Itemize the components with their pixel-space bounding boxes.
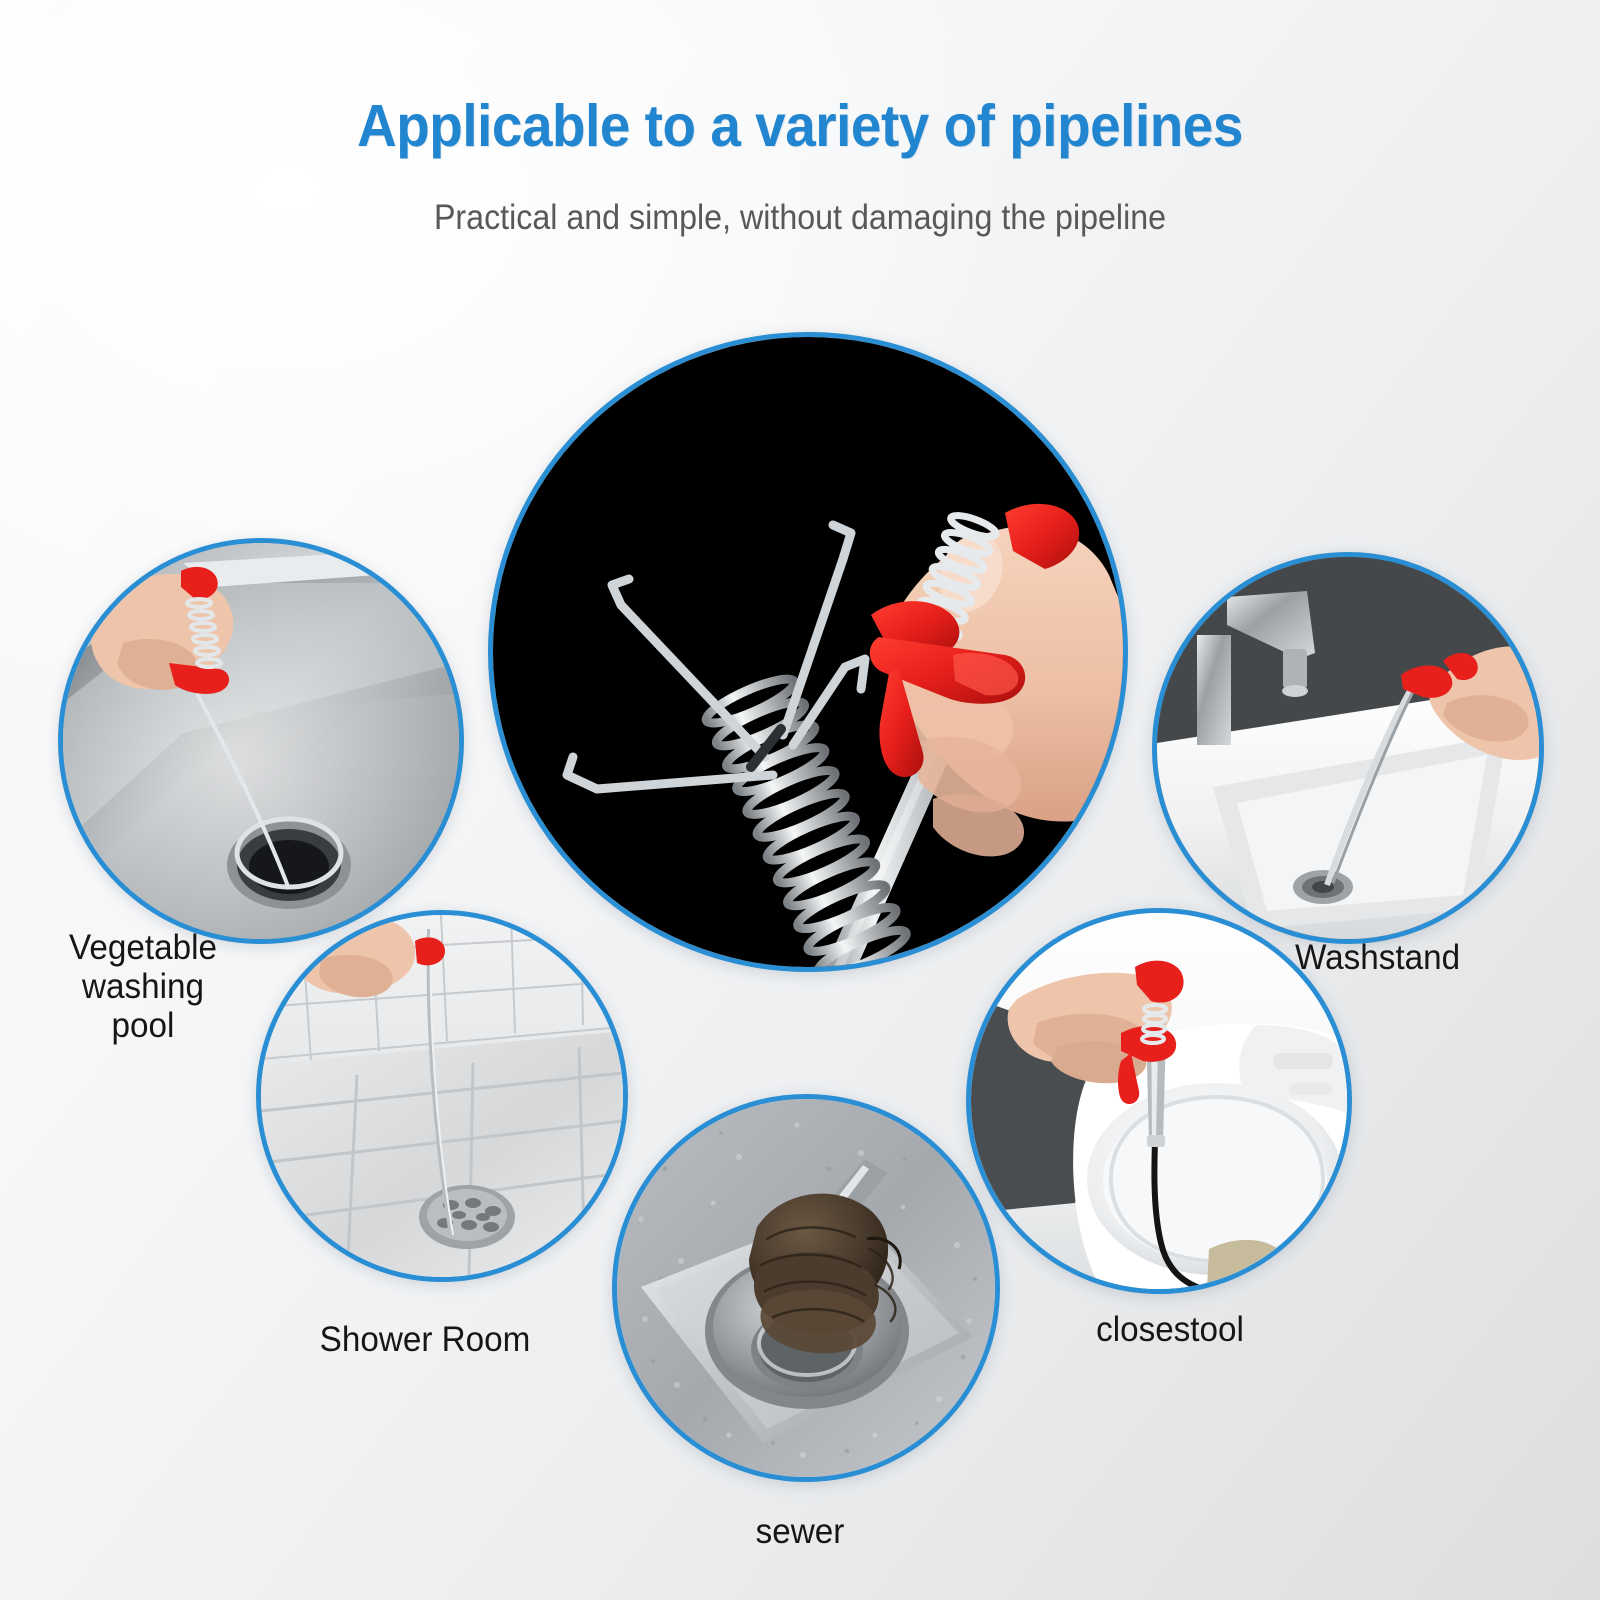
panel-shower-room[interactable] xyxy=(256,910,628,1282)
caption-vegetable-washing-pool: Vegetable washing pool xyxy=(15,928,272,1046)
panel-washstand[interactable] xyxy=(1152,552,1544,944)
panel-vegetable-washing-pool[interactable] xyxy=(58,538,464,944)
floor-drain-icon xyxy=(617,1099,995,1477)
panel-sewer[interactable] xyxy=(612,1094,1000,1482)
caption-line-2: pool xyxy=(15,1006,272,1045)
caption-washstand: Washstand xyxy=(1295,938,1580,977)
caption-line-1: Vegetable washing xyxy=(15,928,272,1006)
page-title: Applicable to a variety of pipelines xyxy=(56,92,1544,160)
panel-center-product[interactable] xyxy=(488,332,1128,972)
sink-icon xyxy=(63,543,459,939)
page-subtitle: Practical and simple, without damaging t… xyxy=(64,198,1536,238)
shower-drain-icon xyxy=(261,915,623,1277)
caption-closestool: closestool xyxy=(1037,1310,1303,1349)
infographic-canvas: Applicable to a variety of pipelines Pra… xyxy=(0,0,1600,1600)
drain-snake-icon xyxy=(493,337,1123,967)
toilet-icon xyxy=(971,913,1347,1289)
basin-icon xyxy=(1157,557,1539,939)
caption-sewer: sewer xyxy=(696,1512,905,1551)
caption-shower-room: Shower Room xyxy=(297,1320,554,1359)
